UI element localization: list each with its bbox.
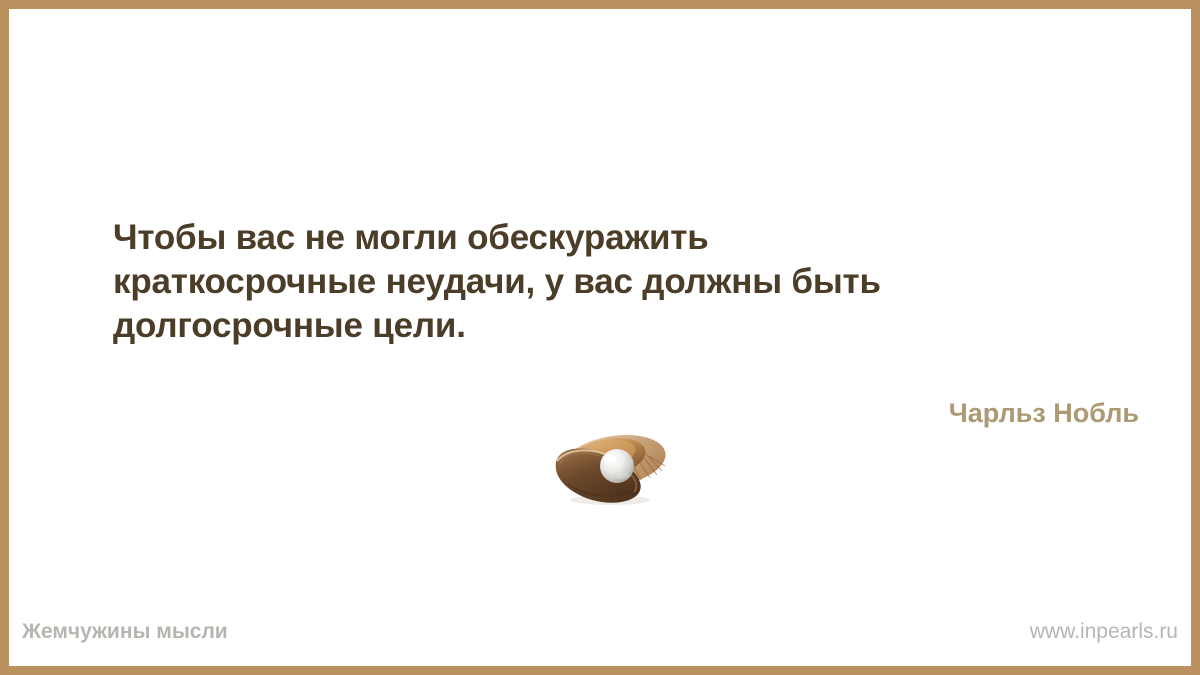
quote-author: Чарльз Нобль [949, 397, 1139, 429]
quote-card: Чтобы вас не могли обескуражить краткоср… [0, 0, 1200, 675]
footer-site-name: Жемчужины мысли [22, 619, 228, 645]
seashell-with-pearl-icon [540, 426, 680, 508]
footer-site-url[interactable]: www.inpearls.ru [1030, 619, 1178, 645]
quote-text: Чтобы вас не могли обескуражить краткоср… [113, 216, 1113, 348]
